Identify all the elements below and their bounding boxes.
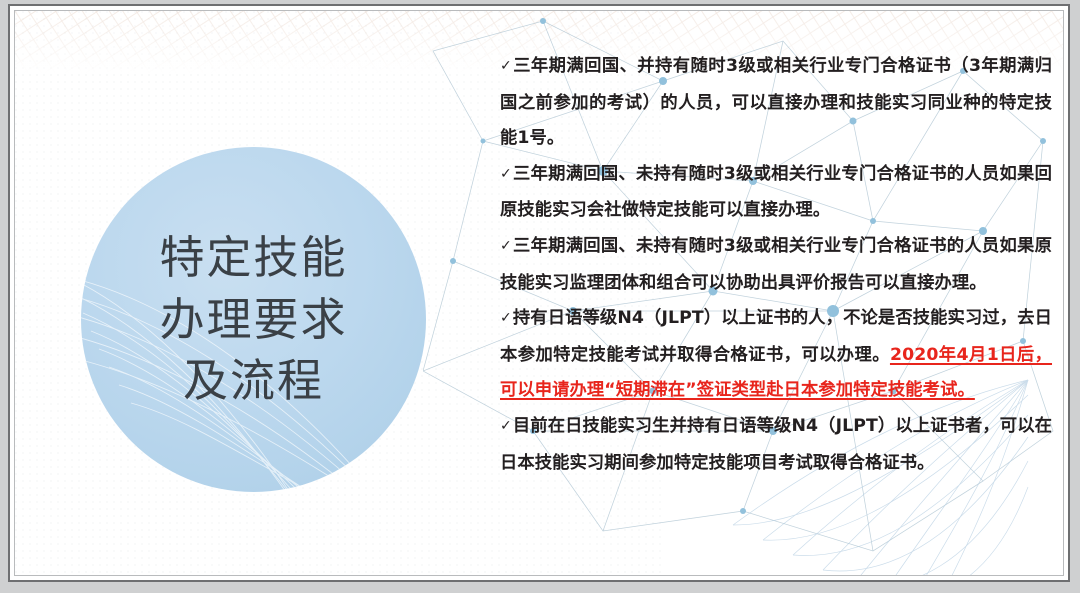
- bullet-item-5: ✓目前在日技能实习生并持有日语等级N4（JLPT）以上证书者，可以在日本技能实习…: [500, 409, 1052, 481]
- check-icon: ✓: [500, 49, 512, 85]
- title-line-2: 办理要求: [159, 290, 347, 349]
- bullet-text-2: 三年期满回国、未持有随时3级或相关行业专门合格证书的人员如果回原技能实习会社做特…: [500, 164, 1052, 221]
- bullet-item-3: ✓三年期满回国、未持有随时3级或相关行业专门合格证书的人员如果原技能实习监理团体…: [500, 229, 1052, 301]
- title-line-3: 及流程: [183, 351, 324, 410]
- check-icon: ✓: [500, 157, 512, 193]
- bullet-list: ✓三年期满回国、并持有随时3级或相关行业专门合格证书（3年期满归国之前参加的考试…: [500, 49, 1052, 481]
- bullet-item-4: ✓持有日语等级N4（JLPT）以上证书的人，不论是否技能实习过，去日本参加特定技…: [500, 301, 1052, 409]
- title-line-1: 特定技能: [159, 228, 347, 287]
- bullet-text-1: 三年期满回国、并持有随时3级或相关行业专门合格证书（3年期满归国之前参加的考试）…: [500, 56, 1052, 148]
- slide-frame: 特定技能 办理要求 及流程 ✓三年期满回国、并持有随时3级或相关行业专门合格证书…: [0, 0, 1080, 593]
- check-icon: ✓: [500, 229, 512, 265]
- bullet-item-1: ✓三年期满回国、并持有随时3级或相关行业专门合格证书（3年期满归国之前参加的考试…: [500, 49, 1052, 157]
- check-icon: ✓: [500, 301, 512, 337]
- check-icon: ✓: [500, 409, 512, 445]
- bullet-text-3: 三年期满回国、未持有随时3级或相关行业专门合格证书的人员如果原技能实习监理团体和…: [500, 236, 1052, 293]
- slide-canvas: 特定技能 办理要求 及流程 ✓三年期满回国、并持有随时3级或相关行业专门合格证书…: [14, 10, 1064, 576]
- page-title: 特定技能 办理要求 及流程: [81, 147, 426, 492]
- bullet-text-5: 目前在日技能实习生并持有日语等级N4（JLPT）以上证书者，可以在日本技能实习期…: [500, 416, 1052, 473]
- bullet-item-2: ✓三年期满回国、未持有随时3级或相关行业专门合格证书的人员如果回原技能实习会社做…: [500, 157, 1052, 229]
